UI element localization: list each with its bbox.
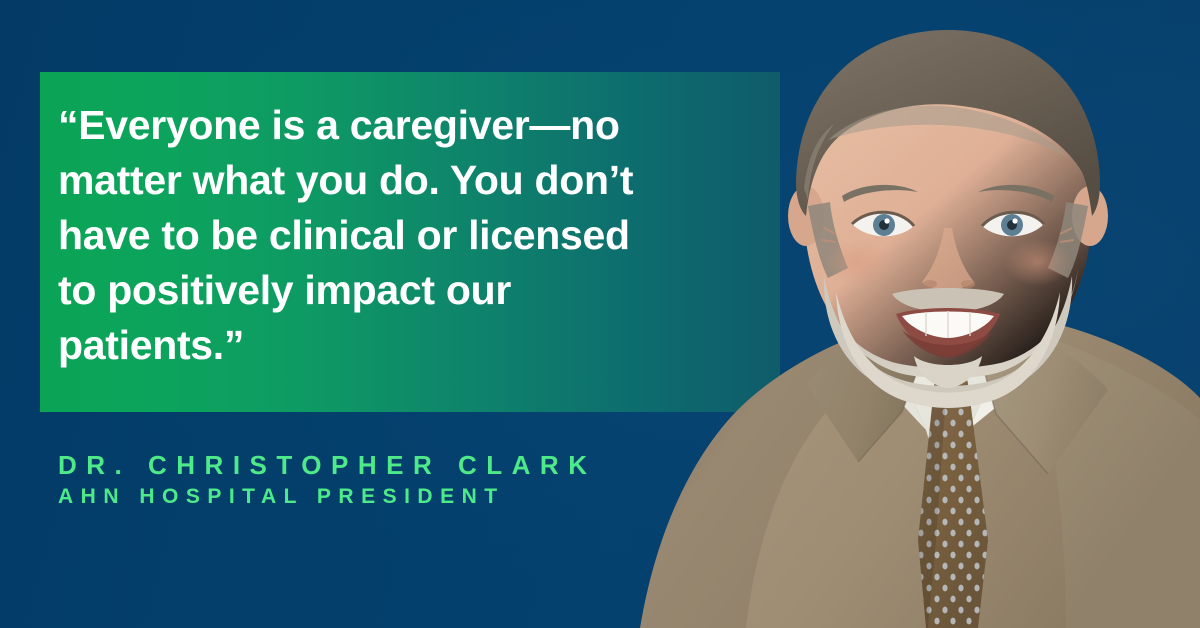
speaker-name: DR. CHRISTOPHER CLARK xyxy=(58,448,596,482)
speaker-title: AHN HOSPITAL PRESIDENT xyxy=(58,482,596,512)
quote-text: “Everyone is a caregiver—no matter what … xyxy=(58,98,678,373)
portrait-photo xyxy=(596,0,1200,628)
attribution: DR. CHRISTOPHER CLARK AHN HOSPITAL PRESI… xyxy=(58,448,596,512)
quote-card: “Everyone is a caregiver—no matter what … xyxy=(0,0,1200,628)
